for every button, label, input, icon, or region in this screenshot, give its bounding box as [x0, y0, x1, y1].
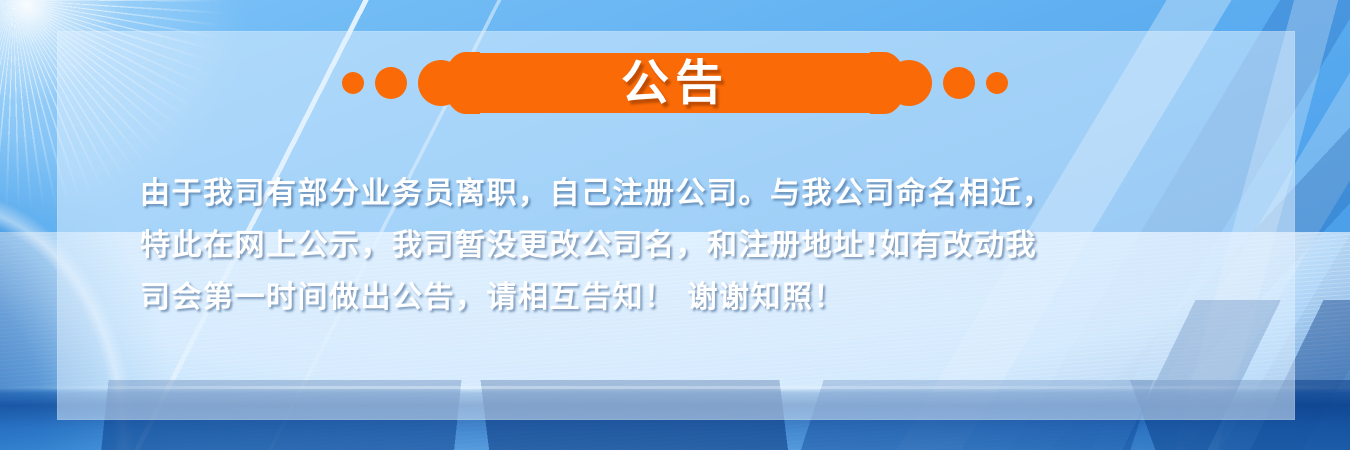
notice-line: 由于我司有部分业务员离职，自己注册公司。与我公司命名相近，: [140, 168, 1220, 220]
notice-line: 司会第一时间做出公告，请相互告知！ 谢谢知照！: [140, 272, 1220, 324]
notice-text-block: 由于我司有部分业务员离职，自己注册公司。与我公司命名相近， 特此在网上公示，我司…: [140, 168, 1220, 324]
notice-line: 特此在网上公示，我司暂没更改公司名，和注册地址!如有改动我: [140, 220, 1220, 272]
announcement-banner: 公告 由于我司有部分业务员离职，自己注册公司。与我公司命名相近， 特此在网上公示…: [0, 0, 1350, 450]
